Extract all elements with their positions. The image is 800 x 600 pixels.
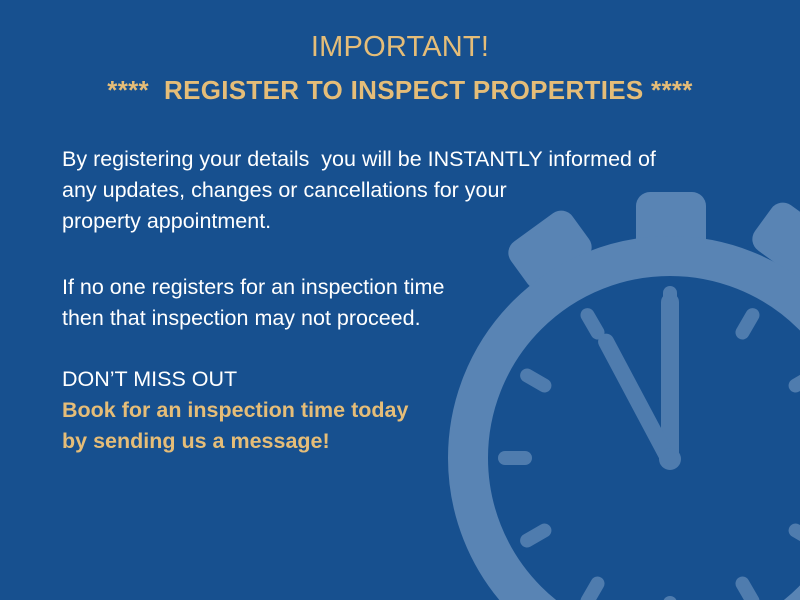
cta-line-1: Book for an inspection time today [62,395,722,426]
call-to-action-block: DON’T MISS OUT Book for an inspection ti… [62,364,722,457]
paragraph-one-line-2: any updates, changes or cancellations fo… [62,175,722,206]
headline-primary: IMPORTANT! [0,28,800,66]
paragraph-one-line-1: By registering your details you will be … [62,144,722,175]
cta-lead-text: DON’T MISS OUT [62,364,722,395]
paragraph-one-line-3: property appointment. [62,206,722,237]
paragraph-two-line-1: If no one registers for an inspection ti… [62,272,722,303]
paragraph-no-registration-warning: If no one registers for an inspection ti… [62,272,722,334]
headline-secondary: **** REGISTER TO INSPECT PROPERTIES **** [0,72,800,108]
headline-block: IMPORTANT! **** REGISTER TO INSPECT PROP… [0,28,800,108]
paragraph-registering-details: By registering your details you will be … [62,144,722,237]
text-layer: IMPORTANT! **** REGISTER TO INSPECT PROP… [0,0,800,600]
slide-canvas: IMPORTANT! **** REGISTER TO INSPECT PROP… [0,0,800,600]
cta-line-2: by sending us a message! [62,426,722,457]
paragraph-two-line-2: then that inspection may not proceed. [62,303,722,334]
